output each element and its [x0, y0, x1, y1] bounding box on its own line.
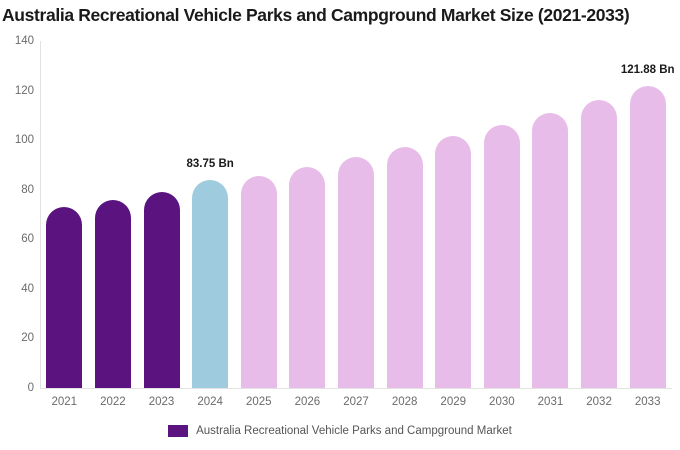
bar[interactable]: [484, 125, 520, 388]
y-axis-tick-label: 60: [0, 233, 34, 245]
bar-group[interactable]: [484, 41, 520, 388]
bar-group[interactable]: [630, 41, 666, 388]
x-axis-tick-label: 2027: [343, 396, 369, 408]
x-axis-tick-label: 2032: [586, 396, 612, 408]
x-axis-tick-label: 2025: [246, 396, 272, 408]
bar-group[interactable]: [95, 41, 131, 388]
x-axis-tick-label: 2029: [440, 396, 466, 408]
bar-group[interactable]: [387, 41, 423, 388]
y-axis-tick-label: 140: [0, 35, 34, 47]
y-axis-tick-label: 40: [0, 283, 34, 295]
legend-swatch: [168, 425, 188, 437]
bar[interactable]: [241, 176, 277, 388]
bar-group[interactable]: [338, 41, 374, 388]
x-axis-tick-label: 2033: [635, 396, 661, 408]
x-axis-tick-label: 2022: [100, 396, 126, 408]
bar[interactable]: [338, 157, 374, 388]
y-axis: 020406080100120140: [0, 0, 34, 450]
bar[interactable]: [144, 192, 180, 388]
bar[interactable]: [581, 100, 617, 388]
bar[interactable]: [532, 113, 568, 388]
chart-title: Australia Recreational Vehicle Parks and…: [2, 4, 678, 26]
x-axis-tick-label: 2030: [489, 396, 515, 408]
x-axis-tick-label: 2021: [52, 396, 78, 408]
bar[interactable]: [387, 147, 423, 388]
bar[interactable]: [435, 136, 471, 388]
bar-group[interactable]: [192, 41, 228, 388]
bar-group[interactable]: [144, 41, 180, 388]
x-axis-tick-label: 2028: [392, 396, 418, 408]
x-axis-line: [40, 388, 672, 389]
x-axis-tick-label: 2031: [538, 396, 564, 408]
y-axis-tick-label: 100: [0, 134, 34, 146]
bar-group[interactable]: [581, 41, 617, 388]
bar-value-label: 121.88 Bn: [621, 64, 675, 76]
chart-container: Australia Recreational Vehicle Parks and…: [0, 0, 680, 450]
bar[interactable]: [192, 180, 228, 388]
bar[interactable]: [630, 86, 666, 388]
y-axis-tick-label: 20: [0, 332, 34, 344]
chart-legend: Australia Recreational Vehicle Parks and…: [0, 425, 680, 437]
bar-group[interactable]: [46, 41, 82, 388]
bar-group[interactable]: [435, 41, 471, 388]
legend-label: Australia Recreational Vehicle Parks and…: [196, 425, 512, 437]
bar-group[interactable]: [532, 41, 568, 388]
bar[interactable]: [95, 200, 131, 388]
y-axis-tick-label: 120: [0, 85, 34, 97]
bar[interactable]: [289, 167, 325, 388]
x-axis-tick-label: 2026: [295, 396, 321, 408]
y-axis-tick-label: 0: [0, 382, 34, 394]
bar[interactable]: [46, 207, 82, 388]
bar-value-label: 83.75 Bn: [186, 158, 233, 170]
plot-area: [40, 41, 672, 388]
x-axis-tick-label: 2024: [197, 396, 223, 408]
y-axis-tick-label: 80: [0, 184, 34, 196]
bar-group[interactable]: [241, 41, 277, 388]
bar-group[interactable]: [289, 41, 325, 388]
x-axis-tick-label: 2023: [149, 396, 175, 408]
